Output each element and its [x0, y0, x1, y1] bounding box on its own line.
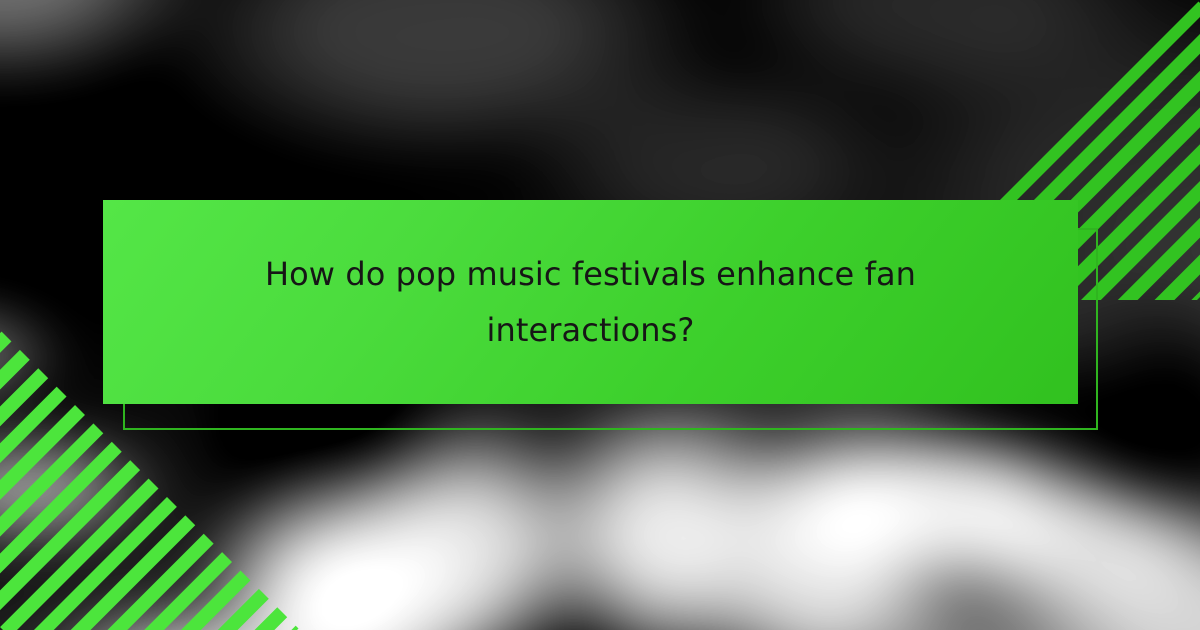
- social-share-card: How do pop music festivals enhance fan i…: [0, 0, 1200, 630]
- headline-card: How do pop music festivals enhance fan i…: [103, 200, 1078, 404]
- page-title: How do pop music festivals enhance fan i…: [241, 246, 941, 358]
